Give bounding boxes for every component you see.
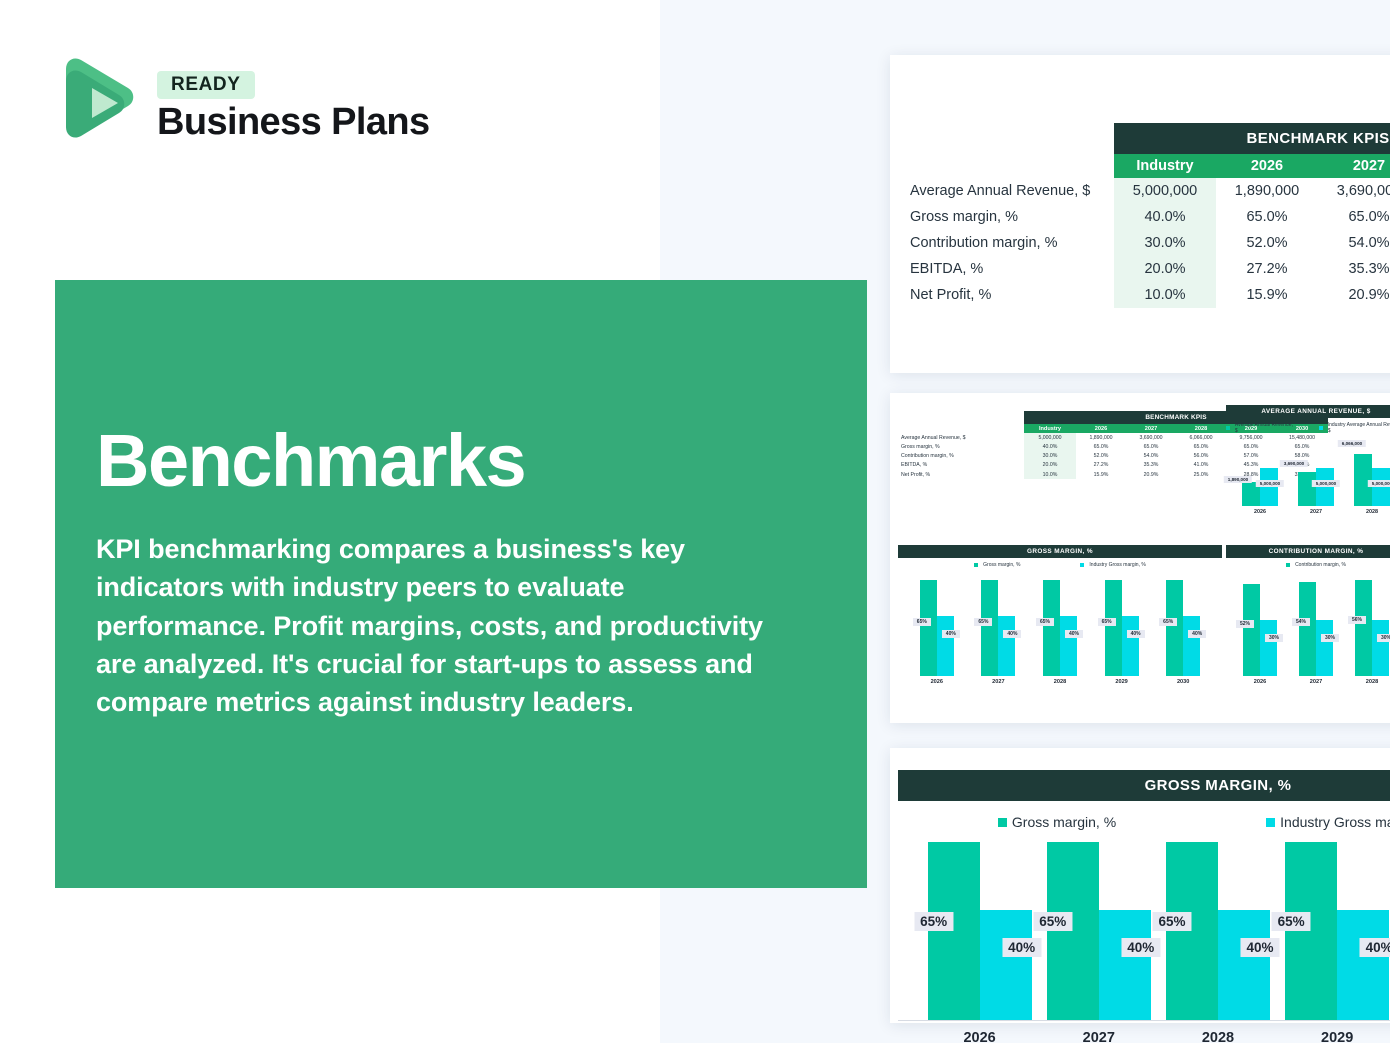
cell: 25.0% <box>1176 470 1226 479</box>
chart-x-axis: 2026 2027 2028 <box>1226 506 1390 515</box>
chart-plot-area: 1,890,000 5,000,000 3,690,000 5,000,000 <box>1226 434 1390 506</box>
bar-company: 65% <box>1105 580 1122 676</box>
card-gross-margin-large: GROSS MARGIN, % Gross margin, % Industry… <box>890 748 1390 1023</box>
average-annual-revenue-chart: AVERAGE ANNUAL REVENUE, $ Average Annual… <box>1226 405 1390 515</box>
bar-value-label: 40% <box>1360 938 1390 957</box>
bar-industry: 40% <box>1122 616 1139 676</box>
bar-industry: 5,000,000 <box>1260 468 1278 506</box>
cell: 5,000,000 <box>1114 178 1216 204</box>
bar-value-label: 40% <box>1188 630 1206 638</box>
legend-swatch-icon <box>974 563 978 567</box>
legend-swatch-icon <box>1286 563 1290 567</box>
row-label: Average Annual Revenue, $ <box>898 433 1024 442</box>
bar-group: 65% 40% <box>1285 842 1389 1020</box>
bar-company: 65% <box>981 580 998 676</box>
bar-industry: 30% <box>1372 620 1389 676</box>
bar-value-label: 5,000,000 <box>1256 480 1284 487</box>
cell: 35.3% <box>1318 256 1390 282</box>
col-header-industry: Industry <box>1114 154 1216 178</box>
bar-value-label: 5,000,000 <box>1368 480 1390 487</box>
bar-value-label: 30% <box>1377 634 1390 642</box>
x-tick: 2028 <box>1202 1030 1234 1043</box>
play-triangle-logo-icon <box>58 55 136 147</box>
bar-company: 65% <box>920 580 937 676</box>
row-label: Net Profit, % <box>902 282 1114 308</box>
legend-item: Average Annual Revenue, $ <box>1226 422 1295 434</box>
cell: 3,690,000 <box>1126 433 1176 442</box>
bar-value-label: 65% <box>974 618 992 626</box>
bar-group: 1,890,000 5,000,000 <box>1242 468 1278 506</box>
bar-value-label: 65% <box>1098 618 1116 626</box>
gross-margin-chart-large: GROSS MARGIN, % Gross margin, % Industry… <box>898 770 1390 1043</box>
bar-value-label: 54% <box>1292 618 1310 626</box>
chart-x-axis: 2026 2027 2028 2029 2030 <box>898 676 1222 685</box>
cell: 3,690,000 <box>1318 178 1390 204</box>
x-tick: 2028 <box>1366 509 1378 515</box>
bar-value-label: 6,066,000 <box>1338 440 1366 447</box>
x-tick: 2027 <box>1083 1030 1115 1043</box>
chart-x-axis: 2026 2027 2028 2029 2030 <box>898 1021 1390 1043</box>
cell: 54.0% <box>1318 230 1390 256</box>
bar-value-label: 40% <box>1002 938 1041 957</box>
legend-item: Gross margin, % <box>998 814 1116 830</box>
bar-value-label: 30% <box>1321 634 1339 642</box>
table-row: Contribution margin, % 30.0% 52.0% 54.0%… <box>902 230 1390 256</box>
bar-value-label: 30% <box>1265 634 1283 642</box>
cell: 20.9% <box>1318 282 1390 308</box>
chart-plot-area: 65% 40% 65% 40% 65% <box>898 842 1390 1020</box>
col-header-2026: 2026 <box>1216 154 1318 178</box>
bar-company: 65% <box>1166 580 1183 676</box>
legend-label: Gross margin, % <box>1012 814 1116 830</box>
wordmark: Business Plans <box>157 103 430 141</box>
x-tick: 2027 <box>992 679 1004 685</box>
x-tick: 2026 <box>963 1030 995 1043</box>
legend-item: Industry Gross margin, % <box>1266 814 1390 830</box>
bar-group: 3,690,000 5,000,000 <box>1298 468 1334 506</box>
bar-industry: 40% <box>1099 910 1151 1020</box>
legend-swatch-icon <box>1319 426 1323 430</box>
cell: 30.0% <box>1024 452 1076 461</box>
cell: 52.0% <box>1076 452 1126 461</box>
bar-group: 56% 30% <box>1355 580 1389 676</box>
bar-group: 65% 40% <box>920 580 954 676</box>
cell: 41.0% <box>1176 461 1226 470</box>
bar-value-label: 40% <box>1121 938 1160 957</box>
bar-group: 6,066,000 5,000,000 <box>1354 454 1390 506</box>
bar-group: 65% 40% <box>1105 580 1139 676</box>
legend-swatch-icon <box>1226 426 1230 430</box>
row-label: Average Annual Revenue, $ <box>902 178 1114 204</box>
row-label: Net Profit, % <box>898 470 1024 479</box>
bar-industry: 30% <box>1260 620 1277 676</box>
row-label: Contribution margin, % <box>902 230 1114 256</box>
x-tick: 2027 <box>1310 509 1322 515</box>
bar-industry: 40% <box>1060 616 1077 676</box>
table-row: EBITDA, % 20.0% 27.2% 35.3% 41.0% <box>902 256 1390 282</box>
chart-plot-area: 52% 30% 54% 30% 56% <box>1226 568 1390 676</box>
legend-label: Average Annual Revenue, $ <box>1235 422 1295 434</box>
cell: 27.2% <box>1216 256 1318 282</box>
bar-value-label: 40% <box>1065 630 1083 638</box>
card-benchmark-table-large: BENCHMARK KPIS Industry 2026 2027 2028 A… <box>890 55 1390 373</box>
bar-company: 52% <box>1243 584 1260 676</box>
chart-legend: Gross margin, % Industry Gross margin, % <box>898 814 1390 830</box>
cell: 54.0% <box>1126 452 1176 461</box>
bar-value-label: 3,690,000 <box>1280 460 1308 467</box>
cell: 20.0% <box>1024 461 1076 470</box>
chart-legend: Average Annual Revenue, $ Industry Avera… <box>1226 422 1390 434</box>
page-description: KPI benchmarking compares a business's k… <box>96 530 768 722</box>
bar-industry: 30% <box>1316 620 1333 676</box>
cell: 10.0% <box>1024 470 1076 479</box>
row-label: EBITDA, % <box>898 461 1024 470</box>
bar-industry: 40% <box>998 616 1015 676</box>
bar-company: 3,690,000 <box>1298 472 1316 506</box>
cell: 10.0% <box>1114 282 1216 308</box>
gross-margin-chart-small: GROSS MARGIN, % Gross margin, % Industry… <box>898 545 1222 685</box>
cell: 35.3% <box>1126 461 1176 470</box>
chart-x-axis: 2026 2027 2028 <box>1226 676 1390 685</box>
bar-value-label: 65% <box>1036 618 1054 626</box>
bar-group: 65% 40% <box>1047 842 1151 1020</box>
benchmark-kpis-table-large: BENCHMARK KPIS Industry 2026 2027 2028 A… <box>902 123 1390 308</box>
x-tick: 2026 <box>931 679 943 685</box>
bar-group: 65% 40% <box>1166 842 1270 1020</box>
row-label: Gross margin, % <box>898 442 1024 451</box>
x-tick: 2028 <box>1366 679 1378 685</box>
cell: 15.9% <box>1076 470 1126 479</box>
bar-company: 65% <box>1043 580 1060 676</box>
bar-value-label: 65% <box>1033 912 1072 931</box>
row-label: Gross margin, % <box>902 204 1114 230</box>
col-header-2026: 2026 <box>1076 424 1126 433</box>
bar-company: 65% <box>1285 842 1337 1020</box>
cell: 65.0% <box>1318 204 1390 230</box>
page-title: Benchmarks <box>96 424 525 498</box>
legend-swatch-icon <box>1266 818 1275 827</box>
legend-swatch-icon <box>1080 563 1084 567</box>
x-tick: 2030 <box>1177 679 1189 685</box>
chart-plot-area: 65% 40% 65% 40% 65% <box>898 568 1222 676</box>
x-tick: 2029 <box>1321 1030 1353 1043</box>
col-header-2028: 2028 <box>1176 424 1226 433</box>
bar-industry: 40% <box>1183 616 1200 676</box>
cell: 40.0% <box>1024 442 1076 451</box>
bar-value-label: 65% <box>914 912 953 931</box>
bar-industry: 5,000,000 <box>1372 468 1390 506</box>
chart-title: GROSS MARGIN, % <box>898 770 1390 801</box>
bar-value-label: 65% <box>1159 618 1177 626</box>
bar-company: 65% <box>1047 842 1099 1020</box>
legend-label: Industry Gross margin, % <box>1280 814 1390 830</box>
bar-group: 65% 40% <box>1166 580 1200 676</box>
cell: 30.0% <box>1114 230 1216 256</box>
cell: 40.0% <box>1114 204 1216 230</box>
ready-badge: READY <box>157 71 255 99</box>
cell: 1,890,000 <box>1076 433 1126 442</box>
x-tick: 2027 <box>1310 679 1322 685</box>
x-tick: 2026 <box>1254 509 1266 515</box>
contribution-margin-chart: CONTRIBUTION MARGIN, % Contribution marg… <box>1226 545 1390 685</box>
bar-company: 65% <box>928 842 980 1020</box>
row-label: EBITDA, % <box>902 256 1114 282</box>
bar-group: 52% 30% <box>1243 584 1277 676</box>
card-dashboard-overview: BENCHMARK KPIS Industry 2026 2027 2028 2… <box>890 393 1390 723</box>
chart-title: AVERAGE ANNUAL REVENUE, $ <box>1226 405 1390 418</box>
bar-company: 65% <box>1166 842 1218 1020</box>
table-row: Average Annual Revenue, $ 5,000,000 1,89… <box>902 178 1390 204</box>
table-title-row: BENCHMARK KPIS <box>902 123 1390 154</box>
cell: 65.0% <box>1076 442 1126 451</box>
cell: 15.9% <box>1216 282 1318 308</box>
brand-logo[interactable]: READY Business Plans <box>58 55 438 150</box>
cell: 52.0% <box>1216 230 1318 256</box>
bar-company: 56% <box>1355 580 1372 676</box>
legend-label: Industry Average Annual Revenue, $ <box>1328 422 1390 434</box>
bar-industry: 5,000,000 <box>1316 468 1334 506</box>
cell: 20.9% <box>1126 470 1176 479</box>
bar-industry: 40% <box>1337 910 1389 1020</box>
table-row: Gross margin, % 40.0% 65.0% 65.0% 65.0% <box>902 204 1390 230</box>
bar-value-label: 56% <box>1348 616 1366 624</box>
bar-industry: 40% <box>937 616 954 676</box>
cell: 1,890,000 <box>1216 178 1318 204</box>
slide-page: READY Business Plans Benchmarks KPI benc… <box>0 0 1390 1043</box>
bar-group: 65% 40% <box>981 580 1015 676</box>
bar-value-label: 65% <box>913 618 931 626</box>
table-row: Net Profit, % 10.0% 15.9% 20.9% 25.0% <box>902 282 1390 308</box>
cell: 5,000,000 <box>1024 433 1076 442</box>
row-label: Contribution margin, % <box>898 452 1024 461</box>
bar-value-label: 1,890,000 <box>1224 476 1252 483</box>
cell: 27.2% <box>1076 461 1126 470</box>
bar-industry: 40% <box>980 910 1032 1020</box>
cell: 65.0% <box>1216 204 1318 230</box>
bar-value-label: 52% <box>1236 620 1254 628</box>
x-tick: 2028 <box>1054 679 1066 685</box>
bar-value-label: 5,000,000 <box>1312 480 1340 487</box>
chart-title: GROSS MARGIN, % <box>898 545 1222 558</box>
bar-group: 54% 30% <box>1299 582 1333 676</box>
bar-value-label: 40% <box>1003 630 1021 638</box>
cell: 65.0% <box>1126 442 1176 451</box>
col-header-industry: Industry <box>1024 424 1076 433</box>
col-header-2027: 2027 <box>1126 424 1176 433</box>
x-tick: 2029 <box>1115 679 1127 685</box>
cell: 56.0% <box>1176 452 1226 461</box>
bar-industry: 40% <box>1218 910 1270 1020</box>
legend-item: Industry Average Annual Revenue, $ <box>1319 422 1390 434</box>
x-tick: 2026 <box>1254 679 1266 685</box>
bar-group: 65% 40% <box>928 842 1032 1020</box>
chart-title: CONTRIBUTION MARGIN, % <box>1226 545 1390 558</box>
legend-swatch-icon <box>998 818 1007 827</box>
bar-value-label: 65% <box>1272 912 1311 931</box>
cell: 65.0% <box>1176 442 1226 451</box>
bar-value-label: 40% <box>1127 630 1145 638</box>
cell: 6,066,000 <box>1176 433 1226 442</box>
bar-value-label: 65% <box>1152 912 1191 931</box>
bar-value-label: 40% <box>942 630 960 638</box>
col-header-2027: 2027 <box>1318 154 1390 178</box>
bar-company: 54% <box>1299 582 1316 676</box>
cell: 20.0% <box>1114 256 1216 282</box>
hero-panel: Benchmarks KPI benchmarking compares a b… <box>55 280 867 888</box>
bar-value-label: 40% <box>1240 938 1279 957</box>
bar-group: 65% 40% <box>1043 580 1077 676</box>
table-header-row: Industry 2026 2027 2028 <box>902 154 1390 178</box>
table-title: BENCHMARK KPIS <box>1114 123 1390 154</box>
